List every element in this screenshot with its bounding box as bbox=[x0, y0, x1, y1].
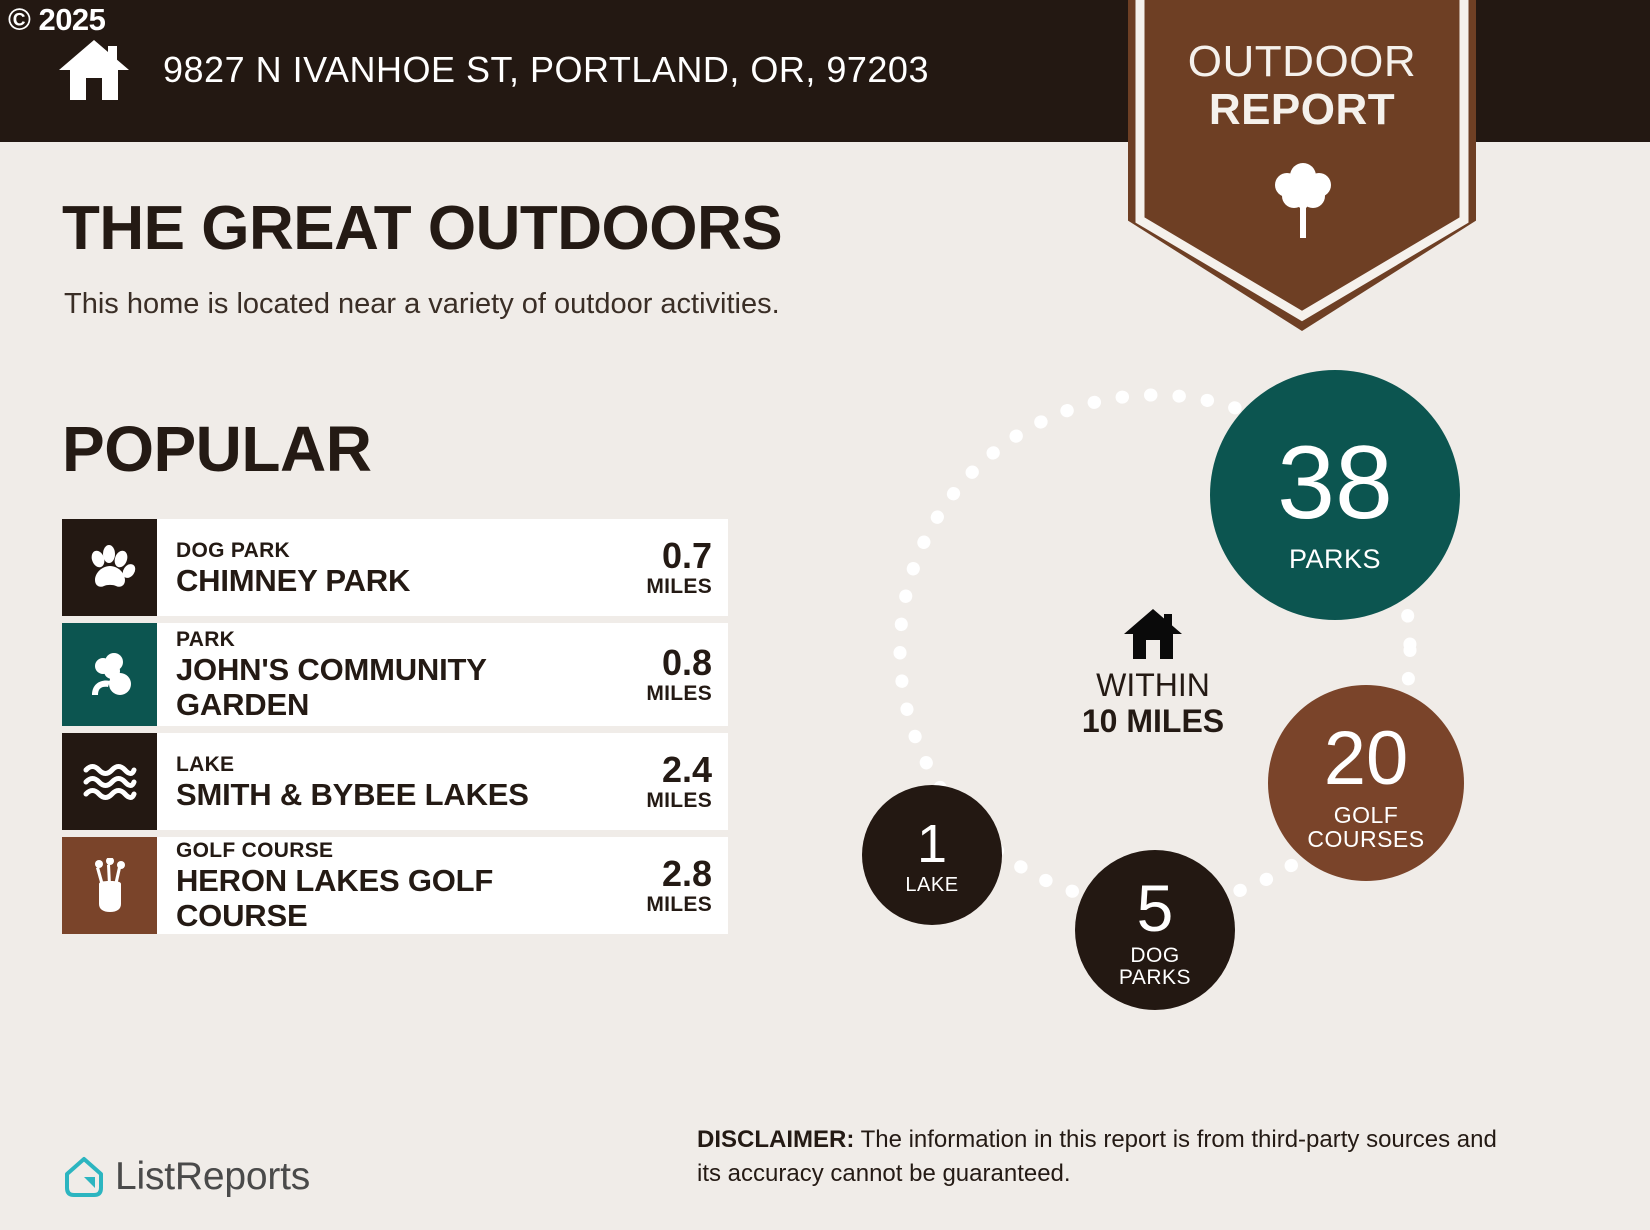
bubble-dog-label: DOG PARKS bbox=[1115, 945, 1195, 989]
park-tree-icon bbox=[84, 649, 136, 701]
poi-name: HERON LAKES GOLF COURSE bbox=[176, 863, 620, 933]
home-icon bbox=[1122, 607, 1184, 661]
badge-title-line2: REPORT bbox=[1146, 86, 1458, 134]
badge-title-line1: OUTDOOR bbox=[1146, 38, 1458, 86]
bubble-lake[interactable]: 1 LAKE bbox=[862, 785, 1002, 925]
bubble-parks-label: PARKS bbox=[1289, 545, 1381, 573]
popular-list: DOG PARK CHIMNEY PARK 0.7 MILES PARK bbox=[62, 519, 728, 941]
poi-icon-tile bbox=[62, 837, 157, 934]
listreports-logo-text: ListReports bbox=[115, 1155, 310, 1199]
poi-icon-tile bbox=[62, 623, 157, 726]
poi-distance-value: 2.8 bbox=[662, 855, 712, 893]
poi-icon-tile bbox=[62, 519, 157, 616]
list-item[interactable]: LAKE SMITH & BYBEE LAKES 2.4 MILES bbox=[62, 733, 728, 830]
bubble-parks-count: 38 bbox=[1277, 431, 1393, 535]
poi-distance: 2.4 MILES bbox=[620, 733, 728, 830]
tree-icon bbox=[1270, 160, 1336, 240]
poi-text: PARK JOHN'S COMMUNITY GARDEN bbox=[157, 623, 620, 726]
within-label: WITHIN bbox=[1038, 667, 1268, 703]
poi-text: GOLF COURSE HERON LAKES GOLF COURSE bbox=[157, 837, 620, 934]
bubble-dog-parks[interactable]: 5 DOG PARKS bbox=[1075, 850, 1235, 1010]
diagram-center: WITHIN 10 MILES bbox=[1038, 607, 1268, 739]
diagram-center-text: WITHIN 10 MILES bbox=[1038, 667, 1268, 739]
section-title-popular: POPULAR bbox=[62, 412, 371, 486]
bubble-parks[interactable]: 38 PARKS bbox=[1210, 370, 1460, 620]
poi-distance: 0.7 MILES bbox=[620, 519, 728, 616]
poi-text: LAKE SMITH & BYBEE LAKES bbox=[157, 733, 620, 830]
disclaimer: DISCLAIMER: The information in this repo… bbox=[697, 1123, 1517, 1191]
poi-distance-unit: MILES bbox=[646, 789, 712, 813]
bubble-lake-count: 1 bbox=[917, 817, 947, 871]
list-item[interactable]: DOG PARK CHIMNEY PARK 0.7 MILES bbox=[62, 519, 728, 616]
bubble-golf-count: 20 bbox=[1324, 721, 1409, 797]
poi-distance-value: 0.8 bbox=[662, 644, 712, 682]
paw-icon bbox=[84, 542, 136, 594]
home-icon bbox=[58, 38, 130, 102]
poi-distance-value: 0.7 bbox=[662, 537, 712, 575]
page-subtitle: This home is located near a variety of o… bbox=[64, 288, 780, 321]
list-item[interactable]: PARK JOHN'S COMMUNITY GARDEN 0.8 MILES bbox=[62, 623, 728, 726]
poi-distance: 2.8 MILES bbox=[620, 837, 728, 934]
poi-distance-value: 2.4 bbox=[662, 751, 712, 789]
poi-distance-unit: MILES bbox=[646, 682, 712, 706]
poi-distance-unit: MILES bbox=[646, 575, 712, 599]
list-item[interactable]: GOLF COURSE HERON LAKES GOLF COURSE 2.8 … bbox=[62, 837, 728, 934]
bubble-dog-count: 5 bbox=[1137, 875, 1174, 941]
waves-icon bbox=[83, 762, 137, 802]
poi-distance-unit: MILES bbox=[646, 893, 712, 917]
amenities-bubble-diagram: 38 PARKS 20 GOLF COURSES 5 DOG PARKS 1 L… bbox=[820, 345, 1520, 1045]
bubble-golf-label: GOLF COURSES bbox=[1306, 803, 1426, 851]
bubble-golf-courses[interactable]: 20 GOLF COURSES bbox=[1268, 685, 1464, 881]
page-title: THE GREAT OUTDOORS bbox=[62, 193, 782, 264]
copyright-label: © 2025 bbox=[8, 2, 105, 38]
poi-distance: 0.8 MILES bbox=[620, 623, 728, 726]
property-address: 9827 N IVANHOE ST, PORTLAND, OR, 97203 bbox=[163, 49, 929, 91]
poi-category: GOLF COURSE bbox=[176, 838, 620, 863]
poi-category: DOG PARK bbox=[176, 538, 620, 563]
poi-category: LAKE bbox=[176, 752, 620, 777]
listreports-logo[interactable]: ListReports bbox=[62, 1155, 310, 1199]
poi-text: DOG PARK CHIMNEY PARK bbox=[157, 519, 620, 616]
within-distance: 10 MILES bbox=[1038, 703, 1268, 739]
poi-name: CHIMNEY PARK bbox=[176, 563, 620, 598]
listreports-logo-icon bbox=[62, 1155, 106, 1199]
poi-name: SMITH & BYBEE LAKES bbox=[176, 777, 620, 812]
badge-title: OUTDOOR REPORT bbox=[1146, 38, 1458, 134]
golf-bag-icon bbox=[87, 858, 133, 914]
poi-icon-tile bbox=[62, 733, 157, 830]
poi-name: JOHN'S COMMUNITY GARDEN bbox=[176, 652, 620, 722]
disclaimer-label: DISCLAIMER: bbox=[697, 1126, 854, 1153]
bubble-lake-label: LAKE bbox=[905, 875, 958, 896]
poi-category: PARK bbox=[176, 627, 620, 652]
